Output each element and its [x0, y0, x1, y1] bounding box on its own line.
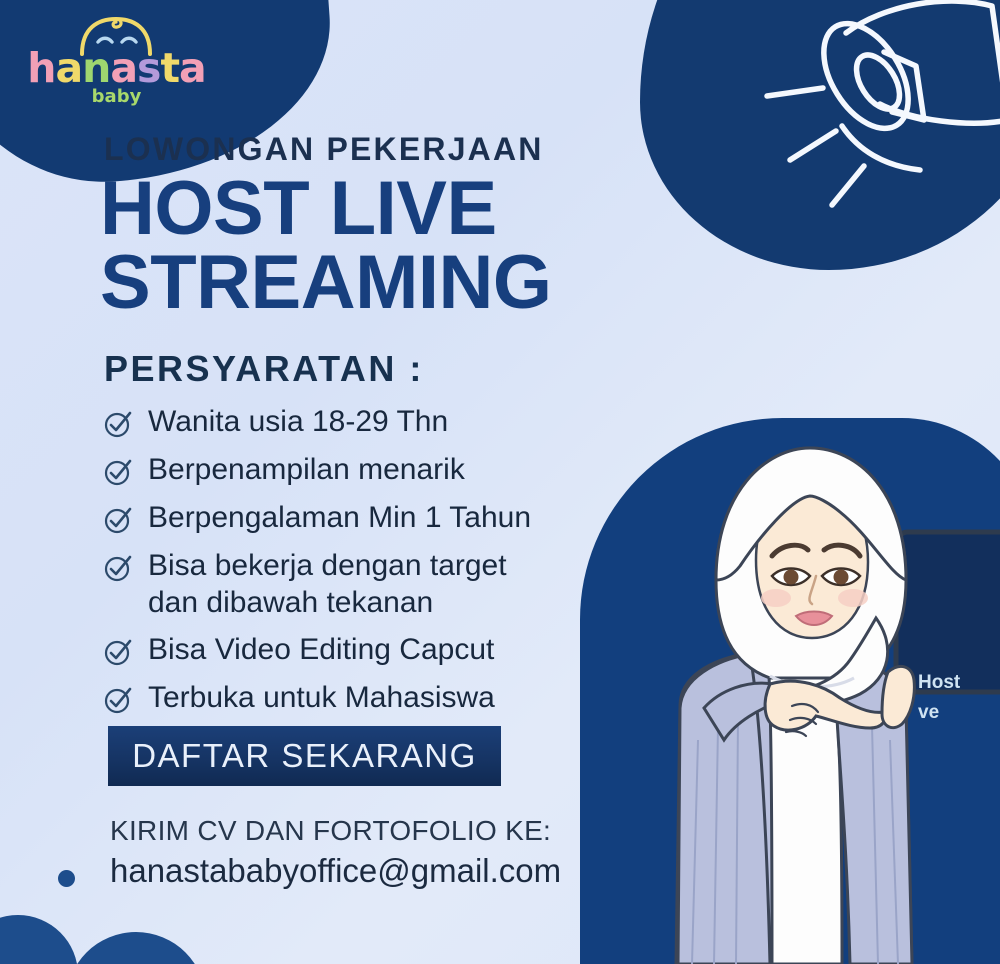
- requirement-item: Berpenampilan menarik: [103, 452, 643, 489]
- logo-letter-3: a: [110, 48, 137, 89]
- check-circle-icon: [103, 457, 133, 487]
- logo-letter-2: n: [82, 48, 110, 89]
- logo-letter-4: s: [137, 48, 160, 89]
- requirement-label: Berpenampilan menarik: [148, 452, 465, 489]
- requirement-label: Wanita usia 18-29 Thn: [148, 404, 448, 441]
- logo-letter-5: t: [160, 48, 179, 89]
- decorative-circle-bottom-left-1: [0, 915, 78, 964]
- logo-wordmark: hanasta: [14, 48, 219, 89]
- decorative-circle-bottom-left-2: [66, 932, 206, 964]
- requirement-item: Bisa Video Editing Capcut: [103, 632, 643, 669]
- check-circle-icon: [103, 409, 133, 439]
- logo-letter-6: a: [179, 48, 206, 89]
- contact-instruction: KIRIM CV DAN FORTOFOLIO KE:: [110, 815, 551, 847]
- requirement-label: Bisa Video Editing Capcut: [148, 632, 494, 669]
- headline-line-2: STREAMING: [100, 246, 552, 320]
- register-now-label: DAFTAR SEKARANG: [132, 737, 477, 775]
- check-circle-icon: [103, 553, 133, 583]
- requirements-list: Wanita usia 18-29 ThnBerpenampilan menar…: [103, 404, 643, 728]
- page-title: HOST LIVE STREAMING: [100, 172, 552, 321]
- check-circle-icon: [103, 505, 133, 535]
- requirement-item: Bisa bekerja dengan target dan dibawah t…: [103, 548, 643, 622]
- host-illustration: [620, 440, 1000, 964]
- check-circle-icon: [103, 637, 133, 667]
- requirement-label: Berpengalaman Min 1 Tahun: [148, 500, 531, 537]
- logo-letter-1: a: [55, 48, 82, 89]
- requirements-heading: PERSYARATAN :: [104, 348, 424, 390]
- check-circle-icon: [103, 685, 133, 715]
- register-now-button[interactable]: DAFTAR SEKARANG: [108, 726, 501, 786]
- requirement-label: Terbuka untuk Mahasiswa: [148, 680, 495, 717]
- eyebrow-text: LOWONGAN PEKERJAAN: [104, 131, 544, 168]
- logo-subtext: baby: [14, 86, 219, 107]
- phone-screen-text-line-1: Host: [918, 672, 960, 694]
- contact-email[interactable]: hanastababyoffice@gmail.com: [110, 852, 561, 890]
- phone-screen-text-line-2: ve: [918, 702, 939, 724]
- requirement-item: Terbuka untuk Mahasiswa: [103, 680, 643, 717]
- requirement-item: Berpengalaman Min 1 Tahun: [103, 500, 643, 537]
- decorative-dot: [58, 870, 75, 887]
- logo-letter-0: h: [27, 48, 55, 89]
- megaphone-icon: [670, 0, 1000, 230]
- job-vacancy-poster: hanasta baby LOWONGAN PEKERJAAN HOST LIV…: [0, 0, 1000, 964]
- brand-logo: hanasta baby: [14, 14, 219, 109]
- requirement-item: Wanita usia 18-29 Thn: [103, 404, 643, 441]
- requirement-label: Bisa bekerja dengan target dan dibawah t…: [148, 548, 507, 622]
- headline-line-1: HOST LIVE: [100, 166, 497, 251]
